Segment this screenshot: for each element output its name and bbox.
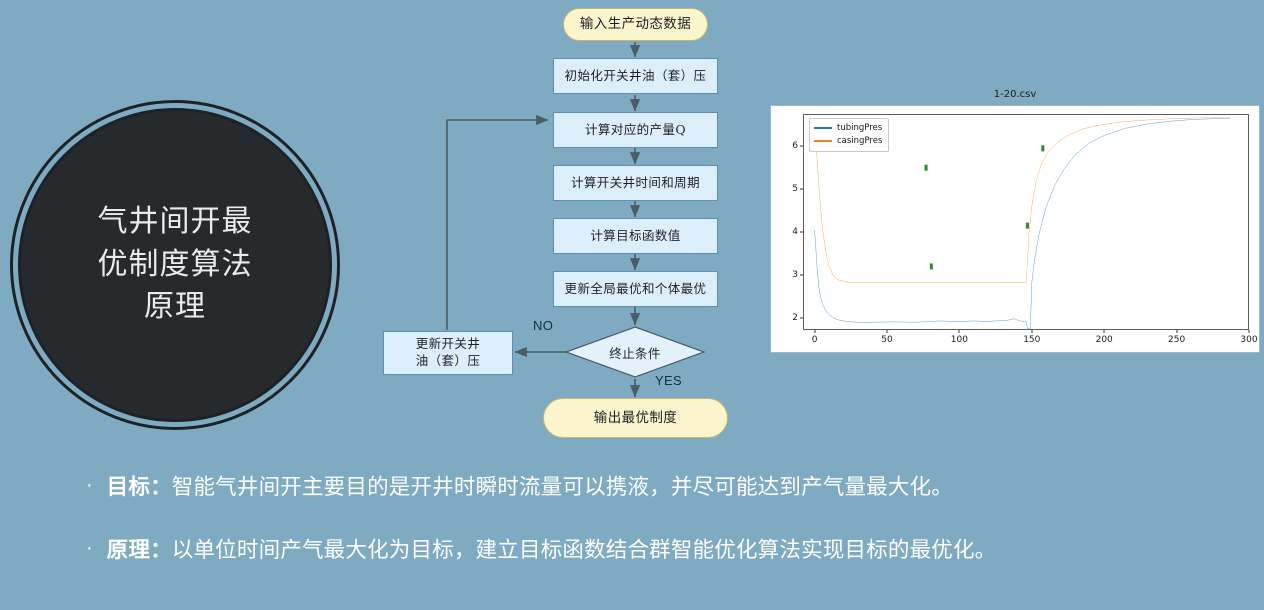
- chart-x-tickmark: [814, 330, 815, 333]
- flow-node-calc-cycle[interactable]: 计算开关井时间和周期: [553, 165, 718, 201]
- chart-x-tickmark: [1249, 330, 1250, 333]
- bullet-label-goal: 目标：: [107, 475, 172, 499]
- chart-y-tickmark: [800, 189, 803, 190]
- chart-x-tickmark: [1104, 330, 1105, 333]
- chart-x-tickmark: [959, 330, 960, 333]
- bullet-list: · 目标：智能气井间开主要目的是开井时瞬时流量可以携液，并尽可能达到产气量最大化…: [0, 470, 1264, 596]
- flow-node-output[interactable]: 输出最优制度: [543, 398, 728, 438]
- chart-title: 1-20.csv: [771, 89, 1259, 100]
- bullet-body-principle: 以单位时间产气最大化为目标，建立目标函数结合群智能优化算法实现目标的最优化。: [172, 538, 997, 562]
- flow-node-init[interactable]: 初始化开关井油（套）压: [553, 58, 718, 94]
- pressure-chart-panel[interactable]: 1-20.csv 23456 050100150200250300 tubing…: [770, 105, 1260, 353]
- legend-label-tubing: tubingPres: [837, 122, 882, 135]
- flow-node-calc-production[interactable]: 计算对应的产量Q: [553, 112, 718, 148]
- chart-plot-area: 23456 050100150200250300 tubingPres casi…: [803, 114, 1249, 330]
- title-badge: 气井间开最 优制度算法 原理: [10, 100, 340, 430]
- flow-node-update-best[interactable]: 更新全局最优和个体最优: [553, 271, 718, 307]
- bullet-body-goal: 智能气井间开主要目的是开井时瞬时流量可以携液，并尽可能达到产气量最大化。: [172, 475, 953, 499]
- slide-root: 气井间开最 优制度算法 原理: [0, 0, 1264, 610]
- flow-edge-label-yes: YES: [655, 373, 682, 388]
- flow-node-calc-objective-label: 计算目标函数值: [590, 228, 680, 245]
- chart-y-tickmark: [800, 232, 803, 233]
- bullet-dot-icon: ·: [86, 538, 93, 558]
- bullet-text-goal: 目标：智能气井间开主要目的是开井时瞬时流量可以携液，并尽可能达到产气量最大化。: [107, 470, 953, 501]
- flow-node-revise-pressure-line-2: 油（套）压: [416, 353, 481, 370]
- bullet-item-goal: · 目标：智能气井间开主要目的是开井时瞬时流量可以携液，并尽可能达到产气量最大化…: [0, 470, 1264, 501]
- flow-node-calc-cycle-label: 计算开关井时间和周期: [571, 175, 700, 192]
- chart-y-tickmark: [800, 275, 803, 276]
- badge-title: 气井间开最 优制度算法 原理: [18, 108, 332, 422]
- chart-legend-item-tubing[interactable]: tubingPres: [814, 122, 882, 135]
- legend-swatch-tubing: [814, 127, 832, 129]
- badge-title-line-3: 原理: [144, 286, 206, 329]
- flowchart: 输入生产动态数据 初始化开关井油（套）压 计算对应的产量Q 计算开关井时间和周期…: [370, 0, 750, 450]
- flow-node-output-label: 输出最优制度: [594, 409, 677, 427]
- bullet-item-principle: · 原理：以单位时间产气最大化为目标，建立目标函数结合群智能优化算法实现目标的最…: [0, 533, 1264, 564]
- flow-node-revise-pressure-line-1: 更新开关井: [416, 336, 481, 353]
- flow-node-init-label: 初始化开关井油（套）压: [565, 68, 707, 85]
- bullet-text-principle: 原理：以单位时间产气最大化为目标，建立目标函数结合群智能优化算法实现目标的最优化…: [107, 533, 997, 564]
- flow-node-update-best-label: 更新全局最优和个体最优: [565, 281, 707, 298]
- legend-swatch-casing: [814, 140, 832, 142]
- bullet-label-principle: 原理：: [107, 538, 172, 562]
- chart-x-tickmark: [886, 330, 887, 333]
- flow-node-input[interactable]: 输入生产动态数据: [563, 8, 708, 41]
- flow-edge-label-no: NO: [533, 318, 553, 333]
- chart-y-tickmark: [800, 317, 803, 318]
- chart-legend[interactable]: tubingPres casingPres: [809, 118, 889, 152]
- legend-label-casing: casingPres: [837, 135, 882, 148]
- chart-x-tickmark: [1176, 330, 1177, 333]
- bullet-dot-icon: ·: [86, 475, 93, 495]
- flow-node-revise-pressure[interactable]: 更新开关井 油（套）压: [383, 331, 513, 375]
- flow-node-calc-objective[interactable]: 计算目标函数值: [553, 218, 718, 254]
- chart-x-tickmark: [1031, 330, 1032, 333]
- badge-title-line-1: 气井间开最: [98, 201, 253, 244]
- flow-node-input-label: 输入生产动态数据: [580, 15, 691, 33]
- chart-y-tickmark: [800, 146, 803, 147]
- flow-node-decision[interactable]: 终止条件: [565, 326, 705, 378]
- chart-legend-item-casing[interactable]: casingPres: [814, 135, 882, 148]
- flow-node-calc-production-label: 计算对应的产量Q: [585, 122, 686, 139]
- badge-title-line-2: 优制度算法: [98, 244, 253, 287]
